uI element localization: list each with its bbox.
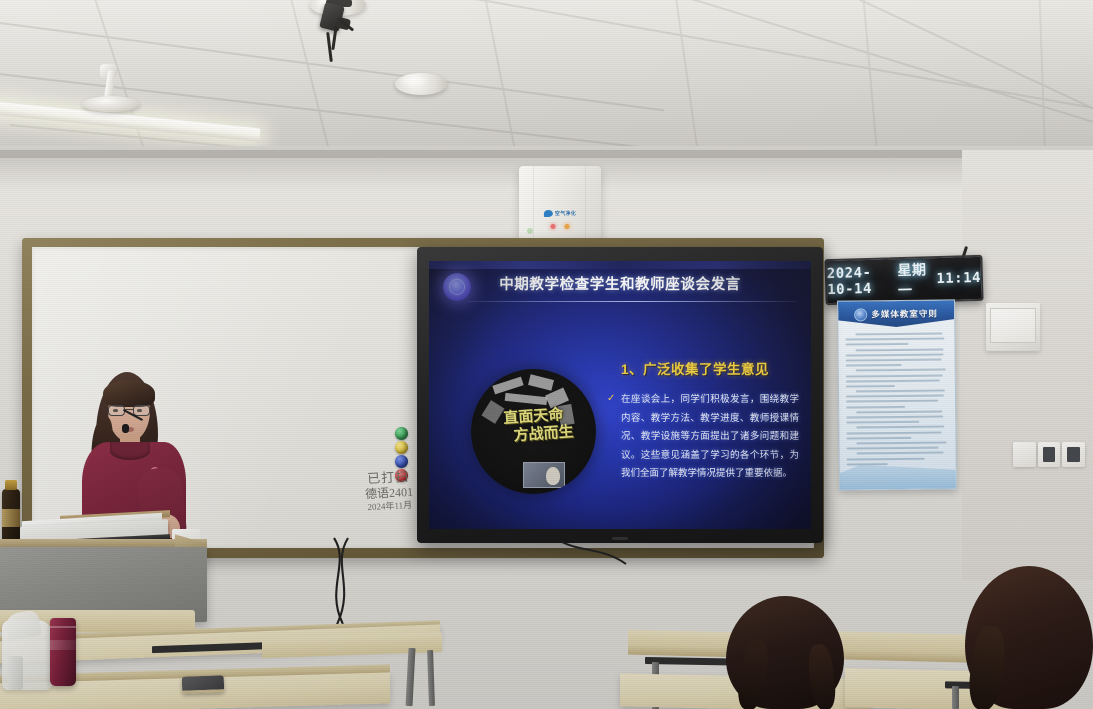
poster-header: 多媒体教室守则 — [838, 300, 954, 327]
classroom-rules-poster: 多媒体教室守则 — [837, 299, 957, 490]
led-clock-date: 2024-10-14 — [827, 264, 891, 298]
switch-plate-blank[interactable] — [1013, 442, 1036, 467]
smartphone[interactable] — [182, 675, 225, 693]
light-switch-panel[interactable] — [1013, 442, 1085, 467]
desk-leg-4 — [952, 686, 959, 709]
student-front-right — [965, 566, 1093, 709]
wall-display-tv[interactable]: 中期教学检查学生和教师座谈会发言 直面天命 方战而生 1、广泛收集了学生意见 — [417, 247, 823, 543]
led-clock-weekday: 星期一 — [897, 259, 929, 300]
instructor-hair-front — [103, 380, 155, 407]
instructor-collar — [110, 442, 150, 460]
drink-bottle — [2, 489, 20, 546]
air-purifier-indicators — [551, 224, 570, 229]
poster-body-text — [838, 326, 955, 465]
air-purifier-status-led — [527, 228, 533, 234]
poster-seal-icon — [854, 308, 867, 321]
poster-title: 多媒体教室守则 — [871, 308, 938, 321]
magnet-yellow[interactable] — [395, 441, 408, 454]
whiteboard-handwriting: 已打扫 德语2401 2024年11月 — [351, 468, 427, 514]
right-wall-panel — [962, 150, 1093, 580]
led-clock-display: 2024-10-14 星期一 11:14 — [824, 255, 983, 305]
classroom-scene: 空气净化 2024-10-14 星期一 11:14 多媒体教室守则 — [0, 0, 1093, 709]
switch-plate-2[interactable] — [1062, 442, 1085, 467]
switch-plate-1[interactable] — [1038, 442, 1061, 467]
plastic-bag — [0, 612, 56, 692]
tv-power-cable — [560, 540, 630, 580]
headset-mic-icon — [122, 424, 129, 433]
magnet-blue[interactable] — [395, 455, 408, 468]
led-clock-time: 11:14 — [936, 270, 981, 287]
air-purifier-brand-text: 空气净化 — [555, 210, 576, 217]
student-front-left — [726, 596, 848, 709]
electrical-panel-box[interactable] — [986, 303, 1040, 351]
air-purifier-unit: 空气净化 — [519, 166, 601, 244]
magnet-green[interactable] — [395, 427, 408, 440]
air-purifier-logo: 空气净化 — [544, 210, 576, 217]
presentation-slide: 中期教学检查学生和教师座谈会发言 直面天命 方战而生 1、广泛收集了学生意见 — [429, 261, 811, 529]
tv-screen[interactable]: 中期教学检查学生和教师座谈会发言 直面天命 方战而生 1、广泛收集了学生意见 — [429, 261, 811, 529]
thermos-bottle — [50, 618, 76, 686]
ceiling-speaker-dome — [395, 73, 447, 95]
